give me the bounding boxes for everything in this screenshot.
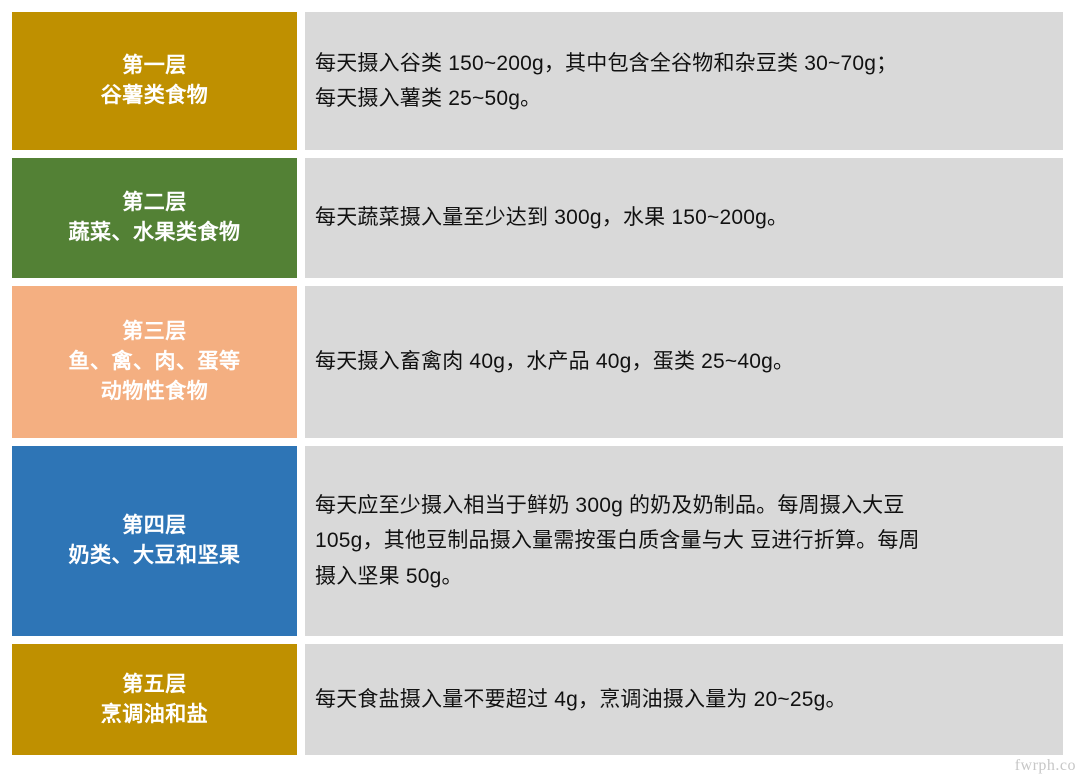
layer-label-line: 第二层	[122, 188, 187, 218]
layer-label-cell-2: 第二层 蔬菜、水果类食物	[12, 158, 297, 278]
layer-description-cell-3: 每天摄入畜禽肉 40g，水产品 40g，蛋类 25~40g。	[305, 286, 1063, 438]
layer-description-cell-1: 每天摄入谷类 150~200g，其中包含全谷物和杂豆类 30~70g； 每天摄入…	[305, 12, 1063, 150]
layer-label-line: 第四层	[122, 511, 187, 541]
description-line: 每天食盐摄入量不要超过 4g，烹调油摄入量为 20~25g。	[315, 682, 1051, 717]
layer-label-line: 第五层	[122, 670, 187, 700]
table-row: 第二层 蔬菜、水果类食物 每天蔬菜摄入量至少达到 300g，水果 150~200…	[12, 158, 1063, 278]
layer-label-line: 谷薯类食物	[101, 81, 209, 111]
dietary-guidelines-table: 第一层 谷薯类食物 每天摄入谷类 150~200g，其中包含全谷物和杂豆类 30…	[0, 0, 1080, 777]
layer-description-cell-2: 每天蔬菜摄入量至少达到 300g，水果 150~200g。	[305, 158, 1063, 278]
description-line: 每天蔬菜摄入量至少达到 300g，水果 150~200g。	[315, 200, 1051, 235]
description-line: 每天摄入薯类 25~50g。	[315, 81, 1051, 116]
layer-label-cell-4: 第四层 奶类、大豆和坚果	[12, 446, 297, 636]
table-row: 第一层 谷薯类食物 每天摄入谷类 150~200g，其中包含全谷物和杂豆类 30…	[12, 12, 1063, 150]
layer-label-line: 奶类、大豆和坚果	[69, 541, 241, 571]
layer-description-cell-4: 每天应至少摄入相当于鲜奶 300g 的奶及奶制品。每周摄入大豆 105g，其他豆…	[305, 446, 1063, 636]
table-row: 第三层 鱼、禽、肉、蛋等 动物性食物 每天摄入畜禽肉 40g，水产品 40g，蛋…	[12, 286, 1063, 438]
description-line: 摄入坚果 50g。	[315, 559, 1051, 594]
description-line: 每天应至少摄入相当于鲜奶 300g 的奶及奶制品。每周摄入大豆	[315, 488, 1051, 523]
layer-label-line: 动物性食物	[101, 377, 209, 407]
table-row: 第五层 烹调油和盐 每天食盐摄入量不要超过 4g，烹调油摄入量为 20~25g。	[12, 644, 1063, 755]
watermark: fwrph.co	[1015, 757, 1076, 775]
layer-label-line: 烹调油和盐	[101, 700, 209, 730]
layer-label-cell-1: 第一层 谷薯类食物	[12, 12, 297, 150]
layer-label-line: 第三层	[122, 317, 187, 347]
description-line: 每天摄入谷类 150~200g，其中包含全谷物和杂豆类 30~70g；	[315, 46, 1051, 81]
layer-label-line: 蔬菜、水果类食物	[69, 218, 241, 248]
layer-label-line: 第一层	[122, 51, 187, 81]
layer-label-line: 鱼、禽、肉、蛋等	[69, 347, 241, 377]
table-row: 第四层 奶类、大豆和坚果 每天应至少摄入相当于鲜奶 300g 的奶及奶制品。每周…	[12, 446, 1063, 636]
description-line: 每天摄入畜禽肉 40g，水产品 40g，蛋类 25~40g。	[315, 344, 1051, 379]
layer-label-cell-5: 第五层 烹调油和盐	[12, 644, 297, 755]
description-line: 105g，其他豆制品摄入量需按蛋白质含量与大 豆进行折算。每周	[315, 523, 1051, 558]
layer-description-cell-5: 每天食盐摄入量不要超过 4g，烹调油摄入量为 20~25g。	[305, 644, 1063, 755]
layer-label-cell-3: 第三层 鱼、禽、肉、蛋等 动物性食物	[12, 286, 297, 438]
